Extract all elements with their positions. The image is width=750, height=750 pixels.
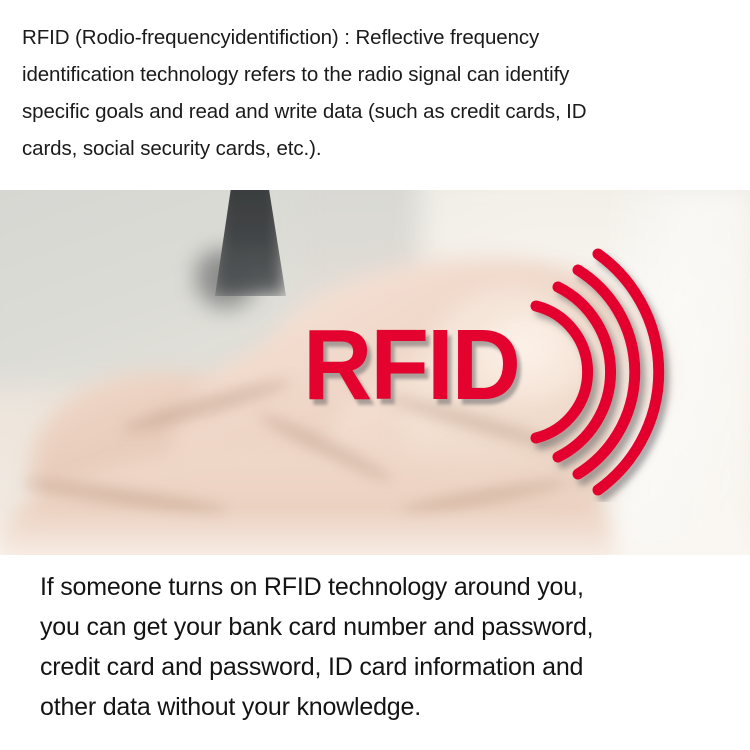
photo-highlight-right [612,190,750,555]
top-text-line-3: specific goals and read and write data (… [22,93,736,130]
rfid-hand-photo: RFID [0,190,750,555]
top-text-line-1: RFID (Rodio-frequencyidentifiction) : Re… [22,19,736,56]
photo-bottom-fade [0,507,750,555]
bottom-text-line-3: credit card and password, ID card inform… [40,647,740,687]
photo-fingernail [470,310,590,402]
top-text-line-2: identification technology refers to the … [22,56,736,93]
bottom-text-line-4: other data without your knowledge. [40,687,740,727]
top-text-block: RFID (Rodio-frequencyidentifiction) : Re… [0,0,750,190]
product-description-page: RFID (Rodio-frequencyidentifiction) : Re… [0,0,750,750]
photo-dark-figure-blur [196,250,256,308]
bottom-text-line-2: you can get your bank card number and pa… [40,607,740,647]
bottom-text-block: If someone turns on RFID technology arou… [0,555,750,750]
bottom-text-line-1: If someone turns on RFID technology arou… [40,567,740,607]
top-text-line-4: cards, social security cards, etc.). [22,130,736,167]
